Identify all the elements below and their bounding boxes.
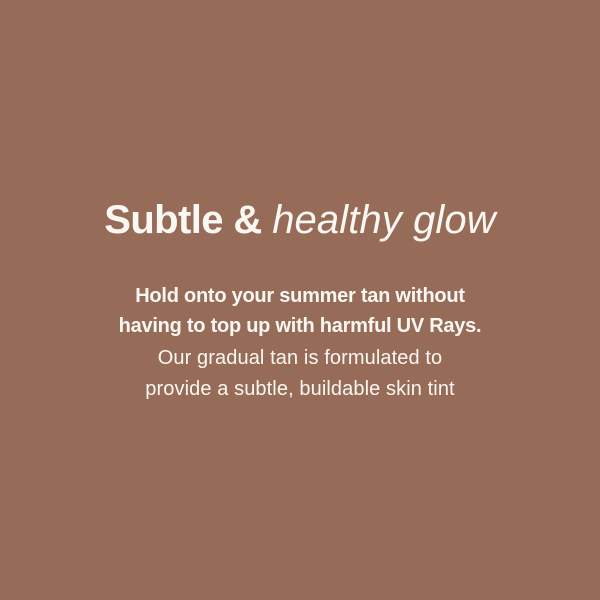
subheadline-line: Hold onto your summer tan without <box>0 281 600 311</box>
body-copy: Our gradual tan is formulated to provide… <box>0 343 600 405</box>
headline-strong-part: Subtle & <box>104 198 261 242</box>
promo-card: Subtle & healthy glow Hold onto your sum… <box>0 0 600 600</box>
headline-accent-part: healthy glow <box>272 198 496 242</box>
subheadline-line: having to top up with harmful UV Rays. <box>0 311 600 341</box>
subheadline: Hold onto your summer tan without having… <box>0 281 600 341</box>
page-title: Subtle & healthy glow <box>0 194 600 246</box>
body-copy-line: provide a subtle, buildable skin tint <box>0 374 600 405</box>
body-copy-line: Our gradual tan is formulated to <box>0 343 600 374</box>
